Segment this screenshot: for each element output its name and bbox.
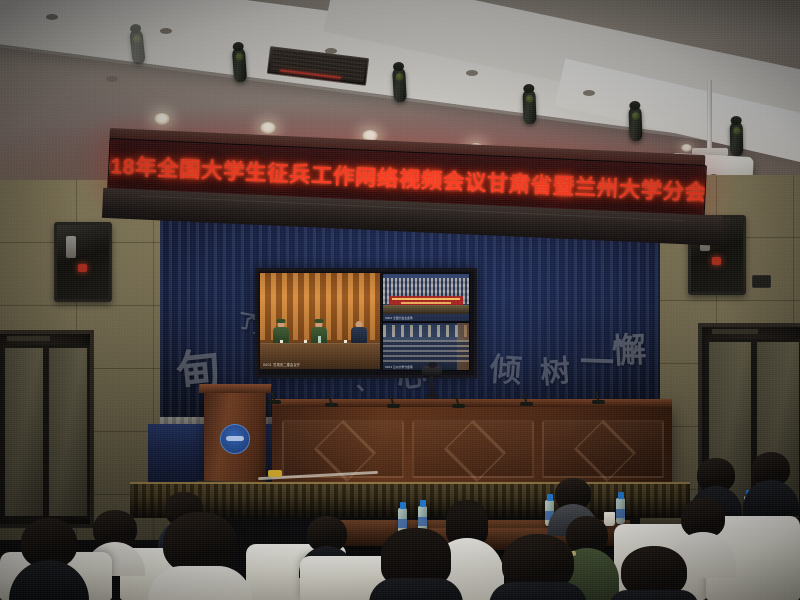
table-microphone-3 — [387, 404, 400, 408]
head — [163, 512, 237, 574]
ceiling-downlight-2 — [260, 122, 276, 134]
ceiling-downlight-6 — [681, 144, 692, 152]
smoke-detector-1 — [46, 14, 58, 20]
table-microphone-5 — [520, 402, 533, 406]
audience-person-r3-4 — [744, 452, 798, 516]
table-panel-1 — [282, 420, 404, 478]
table-panel-3 — [542, 420, 664, 478]
shoulders — [369, 578, 463, 600]
conference-hall-photo: 甸了又、心倾树一懈 2018年全国大学生征兵工作网络视频会议甘肃省暨兰州大学分会… — [0, 0, 800, 600]
table-microphone-4 — [452, 404, 465, 408]
stage-spotlight-5 — [730, 122, 744, 156]
feed-person-official-3 — [350, 321, 367, 344]
projector-mount-pole — [707, 80, 712, 152]
shoulders — [9, 560, 89, 600]
video-feed-sub-2: 0013 兰州大学分会场 — [382, 322, 470, 371]
audience-person-r1-1 — [12, 518, 86, 600]
podium-top — [199, 384, 272, 393]
smoke-detector-2 — [160, 28, 172, 34]
suit-body — [351, 327, 367, 344]
shoulders — [609, 590, 699, 600]
smoke-detector-4 — [466, 70, 478, 76]
smoke-detector-5 — [583, 90, 595, 96]
audience-person-r1-4 — [492, 534, 584, 600]
video-feed-main: 0001 甘肃省二楼会议厅 — [260, 273, 380, 369]
projection-screen: 0001 甘肃省二楼会议厅 0002 全国大会主会场 0013 兰州大学分会场 — [255, 268, 477, 378]
stage-spotlight-4 — [628, 107, 642, 141]
stage-connector — [268, 470, 282, 477]
smoke-detector-3 — [325, 48, 337, 54]
table-microphone-2 — [325, 403, 338, 407]
speaker-podium — [204, 390, 266, 486]
audience-person-r1-5 — [612, 546, 696, 600]
shoulders — [743, 480, 799, 516]
table-microphone-6 — [592, 400, 605, 404]
university-seal-icon — [220, 424, 250, 454]
shoulders — [489, 582, 587, 600]
video-feed-sub-1: 0002 全国大会主会场 — [382, 273, 470, 322]
ceiling-downlight-1 — [154, 113, 170, 125]
table-microphone-1 — [268, 400, 281, 404]
table-panel-2 — [412, 420, 534, 478]
stage-spotlight-2 — [392, 68, 407, 103]
shoulders — [148, 566, 252, 600]
feed-caption-main: 0001 甘肃省二楼会议厅 — [263, 362, 300, 367]
audience-person-r1-2 — [152, 512, 248, 600]
stage-spotlight-1 — [232, 48, 247, 83]
feed-caption-sub-1: 0002 全国大会主会场 — [385, 316, 413, 320]
smoke-detector-6 — [106, 76, 118, 82]
feed-table-rows — [383, 340, 469, 362]
stage-spotlight-3 — [522, 90, 536, 124]
audience-person-r1-3 — [372, 528, 460, 600]
feed-stage — [383, 305, 469, 314]
